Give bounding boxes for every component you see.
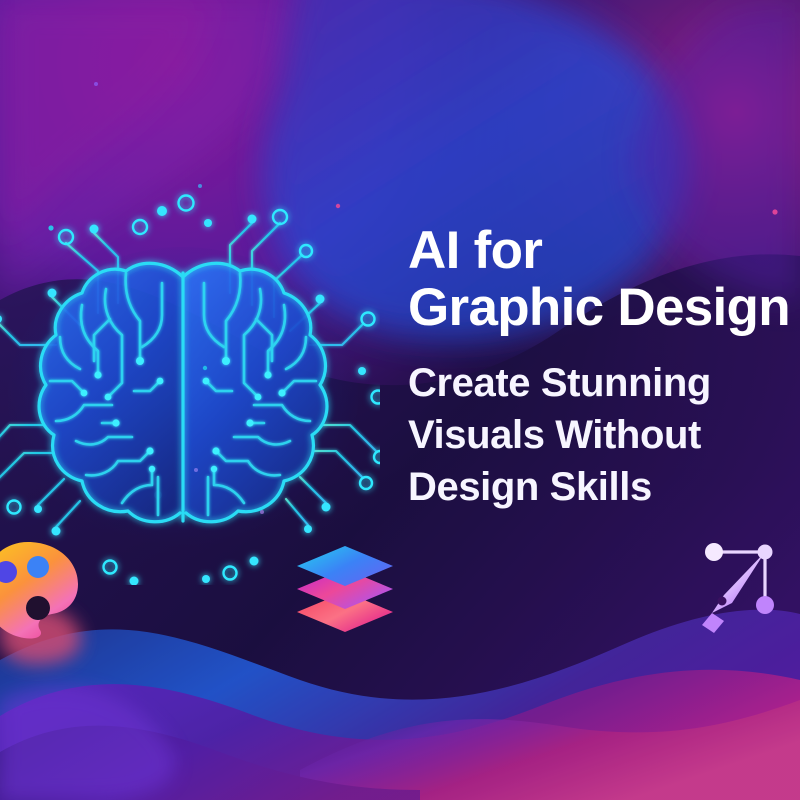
- pen-tool-icon-svg: [692, 533, 792, 635]
- layers-icon: [293, 540, 398, 640]
- layer-shape-top: [297, 546, 393, 586]
- page-title: AI for Graphic Design: [408, 222, 800, 336]
- palette-icon: [0, 536, 100, 644]
- pen-tool-icon: [692, 533, 792, 635]
- hero-banner: AI for Graphic Design Create Stunning Vi…: [0, 0, 800, 800]
- pen-anchor-bottom: [756, 596, 774, 614]
- headline-line-1: AI for: [408, 222, 800, 279]
- ai-circuit-brain-illustration: [0, 185, 380, 585]
- subheadline-line-3: Design Skills: [408, 461, 800, 513]
- brain-svg: [0, 185, 380, 585]
- pen-anchor-corner: [758, 545, 773, 560]
- pen-nib-tip: [702, 613, 724, 633]
- page-subtitle: Create Stunning Visuals Without Design S…: [408, 357, 800, 513]
- pen-handle-lines: [714, 552, 765, 601]
- subheadline-line-1: Create Stunning: [408, 357, 800, 409]
- brain-body: [39, 263, 327, 521]
- pen-anchor-left: [705, 543, 723, 561]
- subheadline-line-2: Visuals Without: [408, 409, 800, 461]
- hero-text-block: AI for Graphic Design Create Stunning Vi…: [408, 222, 800, 513]
- palette-thumb-hole: [26, 596, 50, 620]
- headline-line-2: Graphic Design: [408, 279, 800, 336]
- palette-dot-blue: [27, 556, 49, 578]
- palette-icon-svg: [0, 536, 100, 644]
- pen-nib-hole: [718, 597, 727, 606]
- layers-icon-svg: [293, 540, 398, 640]
